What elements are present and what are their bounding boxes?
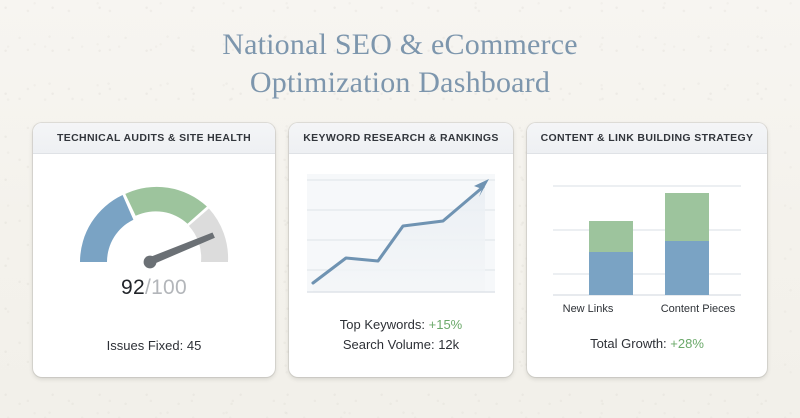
gauge-segment-green (125, 187, 207, 224)
card-footer-keyword-stats: Top Keywords: +15% Search Volume: 12k (289, 315, 513, 377)
bar-chart-category-labels: New Links Content Pieces (527, 303, 767, 315)
card-body-technical-audits: 92/100 Issues Fixed: 45 (33, 154, 275, 377)
card-body-content-link-building: New Links Content Pieces Total Growth: +… (527, 154, 767, 377)
dashboard-cards-row: TECHNICAL AUDITS & SITE HEALTH 92/100 (0, 123, 800, 377)
card-footer-issues-fixed: Issues Fixed: 45 (33, 338, 275, 377)
card-technical-audits[interactable]: TECHNICAL AUDITS & SITE HEALTH 92/100 (33, 123, 275, 377)
issues-fixed-label: Issues Fixed: (107, 338, 187, 353)
total-growth-value: +28% (670, 336, 704, 351)
card-body-keyword-research: Top Keywords: +15% Search Volume: 12k (289, 154, 513, 377)
gauge-score-value: 92 (121, 276, 145, 299)
gauge-score-denominator: /100 (145, 276, 187, 299)
search-volume-label: Search Volume: (343, 337, 438, 352)
bar-chart-wrapper (527, 168, 767, 300)
bar-chart (547, 168, 747, 300)
card-header-content-link-building: CONTENT & LINK BUILDING STRATEGY (527, 123, 767, 154)
page-title-line-1: National SEO & eCommerce (0, 26, 800, 64)
search-volume-row: Search Volume: 12k (289, 335, 513, 355)
bar-content-pieces-blue-segment (665, 241, 709, 295)
bar-label-new-links: New Links (550, 303, 626, 315)
gauge-needle-pivot (144, 256, 157, 269)
gauge-score: 92/100 (33, 276, 275, 300)
card-content-link-building[interactable]: CONTENT & LINK BUILDING STRATEGY (527, 123, 767, 377)
card-keyword-research[interactable]: KEYWORD RESEARCH & RANKINGS (289, 123, 513, 377)
search-volume-value: 12k (438, 337, 459, 352)
card-header-technical-audits: TECHNICAL AUDITS & SITE HEALTH (33, 123, 275, 154)
card-header-keyword-research: KEYWORD RESEARCH & RANKINGS (289, 123, 513, 154)
bar-content-pieces-green-segment (665, 193, 709, 241)
bar-new-links-blue-segment (589, 252, 633, 295)
bar-new-links-green-segment (589, 221, 633, 252)
line-chart-wrapper (289, 170, 513, 298)
total-growth-label: Total Growth: (590, 336, 670, 351)
page-title: National SEO & eCommerce Optimization Da… (0, 0, 800, 102)
bar-label-content-pieces: Content Pieces (652, 303, 744, 315)
gauge-segment-blue (80, 195, 133, 262)
top-keywords-row: Top Keywords: +15% (289, 315, 513, 335)
gauge-chart (66, 170, 242, 270)
line-chart (303, 170, 499, 298)
gauge-chart-wrapper (33, 170, 275, 270)
card-footer-total-growth: Total Growth: +28% (527, 336, 767, 377)
page-title-line-2: Optimization Dashboard (0, 64, 800, 102)
top-keywords-value: +15% (429, 317, 463, 332)
issues-fixed-value: 45 (187, 338, 201, 353)
top-keywords-label: Top Keywords: (340, 317, 429, 332)
